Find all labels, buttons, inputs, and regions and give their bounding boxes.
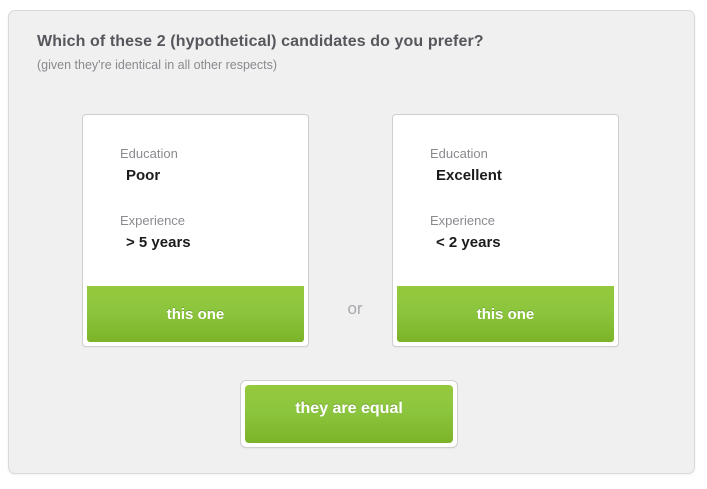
education-label: Education bbox=[120, 145, 178, 162]
candidate-right-experience-field: Experience < 2 years bbox=[430, 212, 501, 253]
candidate-left-experience-value: > 5 years bbox=[120, 233, 191, 253]
choose-candidate-right-button[interactable]: this one bbox=[397, 286, 614, 342]
candidate-right-details: Education Excellent Experience < 2 years bbox=[397, 119, 614, 280]
candidate-left-details: Education Poor Experience > 5 years bbox=[87, 119, 304, 280]
candidate-right-education-field: Education Excellent bbox=[430, 145, 502, 186]
candidate-left-experience-field: Experience > 5 years bbox=[120, 212, 191, 253]
candidate-left-education-field: Education Poor bbox=[120, 145, 178, 186]
or-separator-label: or bbox=[319, 299, 391, 319]
page-subtitle: (given they're identical in all other re… bbox=[37, 58, 277, 72]
candidate-left-education-value: Poor bbox=[120, 166, 178, 186]
candidate-card-right: Education Excellent Experience < 2 years… bbox=[392, 114, 619, 347]
choose-candidate-left-button[interactable]: this one bbox=[87, 286, 304, 342]
candidate-right-education-value: Excellent bbox=[430, 166, 502, 186]
experience-label: Experience bbox=[430, 212, 501, 229]
candidate-right-experience-value: < 2 years bbox=[430, 233, 501, 253]
they-are-equal-button-label[interactable]: they are equal bbox=[245, 385, 453, 443]
they-are-equal-button[interactable]: they are equal bbox=[240, 380, 458, 448]
experience-label: Experience bbox=[120, 212, 191, 229]
survey-panel: Which of these 2 (hypothetical) candidat… bbox=[8, 10, 695, 474]
candidate-card-left: Education Poor Experience > 5 years this… bbox=[82, 114, 309, 347]
education-label: Education bbox=[430, 145, 502, 162]
page-title: Which of these 2 (hypothetical) candidat… bbox=[37, 33, 484, 51]
